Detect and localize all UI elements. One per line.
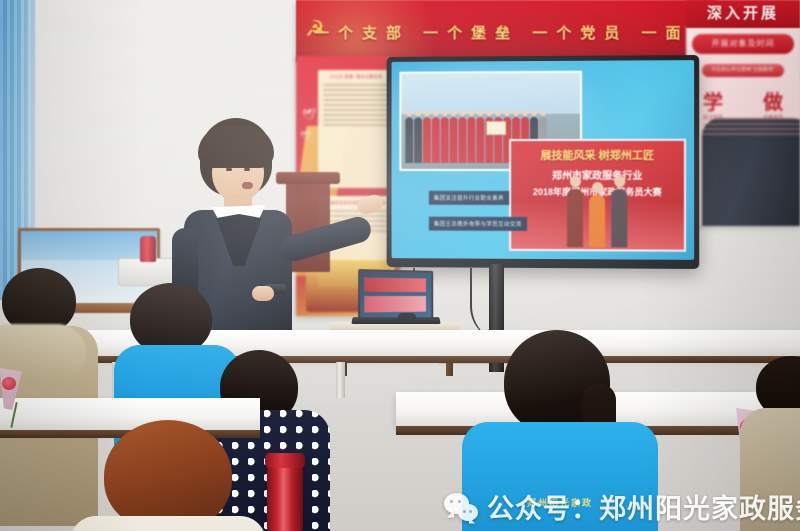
lighting-overlay [0, 0, 800, 531]
screenshot-root: ☭ 一个支部 一个堡垒 一个党员 一面旗帜 🕊 🕊 十九大"党建" 理论主题宣讲… [0, 0, 800, 531]
